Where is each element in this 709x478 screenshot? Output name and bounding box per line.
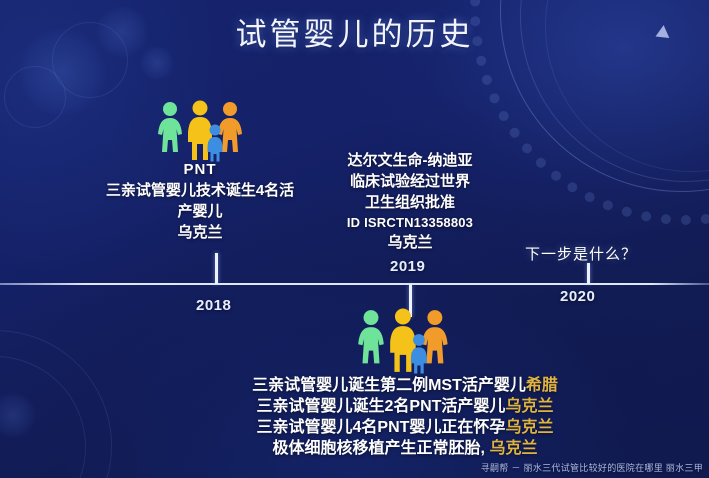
family-group-icon: [156, 100, 246, 162]
event-block-pnt-2018: PNT 三亲试管婴儿技术诞生4名活 产婴儿 乌克兰: [70, 160, 330, 244]
darwin-country: 乌克兰: [320, 232, 500, 254]
bokeh-circle-4: [0, 392, 36, 438]
result-text: 极体细胞核移植产生正常胚胎,: [273, 440, 485, 457]
result-text: 三亲试管婴儿诞生第二例MST活产婴儿: [252, 377, 526, 394]
results-list-2019: 三亲试管婴儿诞生第二例MST活产婴儿希腊 三亲试管婴儿诞生2名PNT活产婴儿乌克…: [185, 375, 625, 459]
darwin-line1: 达尔文生命-纳迪亚: [320, 150, 500, 171]
pnt-body-line2: 产婴儿: [70, 201, 330, 222]
next-step-text: 下一步是什么？: [506, 243, 656, 264]
timeline-tick-2018: [215, 253, 218, 284]
result-row: 三亲试管婴儿诞生第二例MST活产婴儿希腊: [185, 375, 625, 396]
result-country: 乌克兰: [489, 440, 537, 457]
timeline-year-2019: 2019: [390, 258, 425, 275]
bokeh-ring-2: [4, 66, 66, 128]
result-row: 三亲试管婴儿诞生2名PNT活产婴儿乌克兰: [185, 396, 625, 417]
next-step-label: 下一步是什么？: [506, 243, 656, 264]
timeline-year-2018: 2018: [196, 297, 231, 314]
family-group-icon-top: [156, 100, 246, 167]
timeline-axis: [0, 283, 709, 285]
pnt-heading: PNT: [70, 160, 330, 180]
result-text: 三亲试管婴儿4名PNT婴儿正在怀孕: [257, 419, 506, 436]
pnt-body-line1: 三亲试管婴儿技术诞生4名活: [70, 180, 330, 201]
result-country: 希腊: [526, 377, 558, 394]
event-block-darwin-2019: 达尔文生命-纳迪亚 临床试验经过世界 卫生组织批准 ID ISRCTN13358…: [320, 150, 500, 254]
result-country: 乌克兰: [505, 398, 553, 415]
page-title: 试管婴儿的历史: [0, 16, 709, 55]
result-text: 三亲试管婴儿诞生2名PNT活产婴儿: [257, 398, 506, 415]
family-group-icon-bottom: [353, 308, 455, 379]
family-group-icon: [353, 308, 455, 374]
darwin-line3: 卫生组织批准: [320, 192, 500, 213]
slide-canvas: 试管婴儿的历史 2018 2019 2020: [0, 0, 709, 478]
darwin-trial-id: ID ISRCTN13358803: [320, 213, 500, 232]
corner-arc-bottom-left: [0, 330, 112, 478]
pnt-country: 乌克兰: [70, 222, 330, 244]
corner-arc-bottom-left-2: [0, 356, 86, 478]
result-row: 三亲试管婴儿4名PNT婴儿正在怀孕乌克兰: [185, 417, 625, 438]
timeline-tick-2020: [587, 263, 590, 284]
timeline-year-2020: 2020: [560, 288, 595, 305]
result-country: 乌克兰: [505, 419, 553, 436]
watermark: 寻嗣帮 － 丽水三代试管比较好的医院在哪里 丽水三甲: [481, 462, 703, 475]
result-row: 极体细胞核移植产生正常胚胎, 乌克兰: [185, 438, 625, 459]
darwin-line2: 临床试验经过世界: [320, 171, 500, 192]
